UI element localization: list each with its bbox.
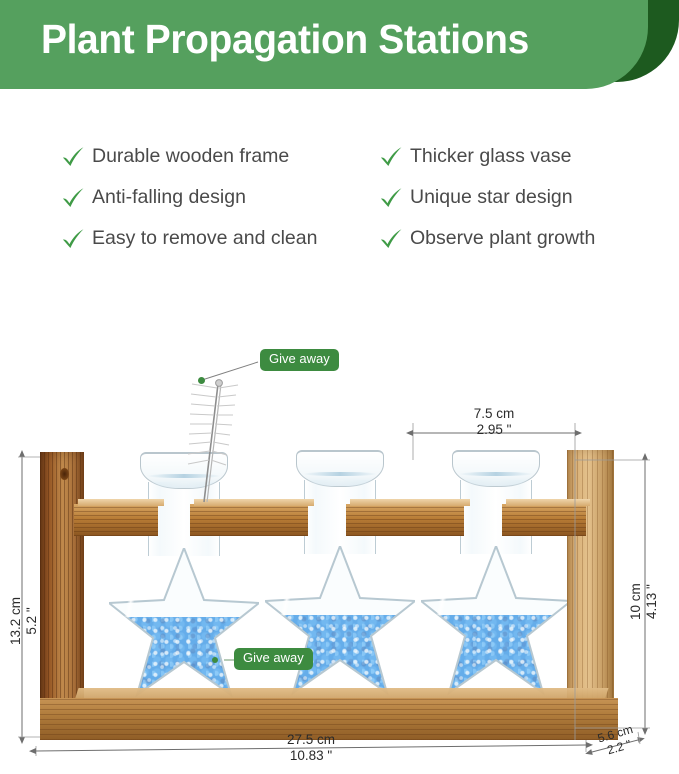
dimension-metric: 13.2 cm bbox=[8, 597, 24, 645]
dimension-frame-width: 27.5 cm 10.83 " bbox=[241, 732, 381, 764]
feature-item: Unique star design bbox=[378, 177, 595, 218]
feature-item: Easy to remove and clean bbox=[60, 218, 317, 259]
dimension-metric: 7.5 cm bbox=[413, 406, 575, 422]
feature-item: Thicker glass vase bbox=[378, 136, 595, 177]
crossbar-lip bbox=[506, 499, 590, 506]
crossbar-lip bbox=[350, 499, 470, 506]
vase-star-outline bbox=[109, 548, 259, 698]
feature-label: Unique star design bbox=[410, 188, 573, 208]
vase-star-outline bbox=[421, 546, 571, 696]
check-icon bbox=[378, 226, 404, 252]
callout-anchor-dot bbox=[212, 657, 218, 663]
vase-star-outline bbox=[265, 546, 415, 696]
giveaway-badge-beads: Give away bbox=[234, 648, 313, 670]
giveaway-badge-brush: Give away bbox=[260, 349, 339, 371]
crossbar-segment bbox=[502, 504, 586, 536]
header-banner: Plant Propagation Stations bbox=[0, 0, 679, 96]
feature-item: Durable wooden frame bbox=[60, 136, 317, 177]
dimension-imperial: 2.95 " bbox=[413, 422, 575, 438]
check-icon bbox=[378, 185, 404, 211]
check-icon bbox=[60, 185, 86, 211]
page-title: Plant Propagation Stations bbox=[41, 16, 529, 63]
dimension-imperial: 4.13 " bbox=[644, 583, 660, 620]
product-photo: Give away Give away bbox=[0, 300, 679, 774]
callout-anchor-dot bbox=[198, 377, 205, 384]
feature-label: Thicker glass vase bbox=[410, 147, 571, 167]
feature-item: Observe plant growth bbox=[378, 218, 595, 259]
crossbar-segment bbox=[346, 504, 464, 536]
dimension-metric: 10 cm bbox=[628, 583, 644, 620]
crossbar-segment bbox=[74, 504, 158, 536]
dimension-vase-width: 7.5 cm 2.95 " bbox=[413, 406, 575, 438]
frame-crossbar bbox=[74, 504, 586, 536]
feature-list: Durable wooden frame Anti-falling design… bbox=[0, 136, 679, 260]
crossbar-lip bbox=[78, 499, 164, 506]
infographic-page: Plant Propagation Stations Durable woode… bbox=[0, 0, 679, 774]
wood-knot bbox=[60, 468, 69, 480]
dimension-metric: 27.5 cm bbox=[241, 732, 381, 748]
feature-label: Anti-falling design bbox=[92, 188, 246, 208]
check-icon bbox=[60, 226, 86, 252]
feature-label: Easy to remove and clean bbox=[92, 229, 317, 249]
crossbar-segment bbox=[190, 504, 308, 536]
feature-column-left: Durable wooden frame Anti-falling design… bbox=[60, 136, 317, 259]
check-icon bbox=[60, 144, 86, 170]
dimension-imperial: 5.2 " bbox=[24, 597, 40, 645]
cleaning-brush-icon bbox=[186, 376, 246, 506]
dimension-imperial: 10.83 " bbox=[241, 748, 381, 764]
feature-label: Observe plant growth bbox=[410, 229, 595, 249]
feature-item: Anti-falling design bbox=[60, 177, 317, 218]
check-icon bbox=[378, 144, 404, 170]
feature-label: Durable wooden frame bbox=[92, 147, 289, 167]
dimension-frame-height: 13.2 cm 5.2 " bbox=[8, 597, 40, 645]
feature-column-right: Thicker glass vase Unique star design Ob… bbox=[378, 136, 595, 259]
dimension-vase-height: 10 cm 4.13 " bbox=[628, 583, 660, 620]
